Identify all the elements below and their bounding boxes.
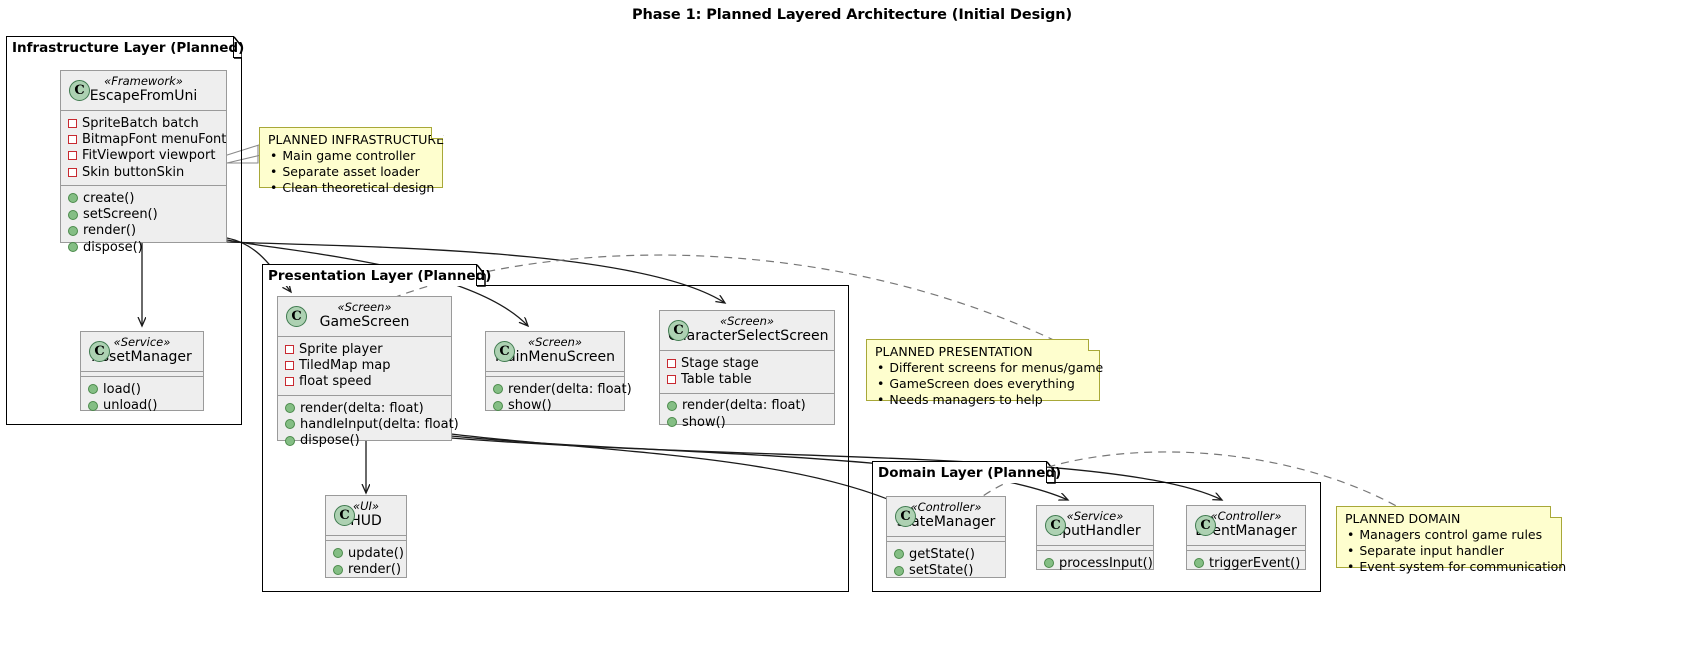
- class-icon: C: [895, 506, 916, 527]
- method-label: dispose(): [300, 433, 360, 448]
- public-method-icon: [88, 384, 98, 394]
- private-field-icon: [68, 168, 77, 177]
- field-row: TiledMap map: [285, 357, 445, 373]
- note-item: GameScreen does everything: [875, 376, 1091, 392]
- class-escapefromuni[interactable]: C «Framework» EscapeFromUni SpriteBatch …: [60, 70, 227, 243]
- method-label: getState(): [909, 547, 975, 562]
- class-methods: getState() setState(): [887, 542, 1005, 584]
- method-label: render(): [348, 562, 401, 577]
- method-row: dispose(): [68, 239, 220, 255]
- class-methods: triggerEvent(): [1187, 551, 1305, 576]
- class-header-gamescreen: C «Screen» GameScreen: [278, 297, 451, 337]
- class-icon: C: [1045, 515, 1066, 536]
- public-method-icon: [88, 401, 98, 411]
- field-row: SpriteBatch batch: [68, 115, 220, 131]
- method-label: render(): [83, 223, 136, 238]
- private-field-icon: [667, 359, 676, 368]
- method-label: show(): [508, 398, 552, 413]
- field-label: SpriteBatch batch: [82, 116, 199, 131]
- private-field-icon: [285, 361, 294, 370]
- class-stereotype: «Framework»: [69, 75, 218, 88]
- note-item: Separate asset loader: [268, 164, 434, 180]
- class-name: EscapeFromUni: [69, 88, 218, 105]
- class-header-eventmanager: C «Controller» EventManager: [1187, 506, 1305, 546]
- class-icon: C: [668, 320, 689, 341]
- note-title: PLANNED INFRASTRUCTURE: [268, 132, 434, 148]
- method-row: triggerEvent(): [1194, 555, 1299, 571]
- method-row: unload(): [88, 397, 197, 413]
- field-label: Table table: [681, 372, 752, 387]
- method-row: update(): [333, 545, 400, 561]
- class-eventmanager[interactable]: C «Controller» EventManager triggerEvent…: [1186, 505, 1306, 570]
- method-row: load(): [88, 381, 197, 397]
- package-tab-infrastructure: Infrastructure Layer (Planned): [6, 36, 234, 58]
- note-item: Clean theoretical design: [268, 180, 434, 196]
- field-label: TiledMap map: [299, 358, 390, 373]
- class-header-mainmenuscreen: C «Screen» MainMenuScreen: [486, 332, 624, 372]
- public-method-icon: [285, 419, 295, 429]
- class-icon: C: [89, 341, 110, 362]
- public-method-icon: [68, 226, 78, 236]
- note-item: Different screens for menus/game: [875, 360, 1091, 376]
- field-label: Sprite player: [299, 342, 383, 357]
- method-row: render(delta: float): [285, 400, 445, 416]
- class-header-statemanager: C «Controller» StateManager: [887, 497, 1005, 537]
- method-label: processInput(): [1059, 556, 1153, 571]
- class-assetmanager[interactable]: C «Service» AssetManager load() unload(): [80, 331, 204, 411]
- method-label: render(delta: float): [508, 382, 632, 397]
- class-methods: update() render(): [326, 541, 406, 583]
- public-method-icon: [493, 401, 503, 411]
- method-label: dispose(): [83, 240, 143, 255]
- class-header-escapefromuni: C «Framework» EscapeFromUni: [61, 71, 226, 111]
- public-method-icon: [667, 417, 677, 427]
- method-row: render(delta: float): [667, 398, 828, 414]
- method-label: triggerEvent(): [1209, 556, 1300, 571]
- public-method-icon: [285, 403, 295, 413]
- method-label: setState(): [909, 563, 973, 578]
- class-name: CharacterSelectScreen: [668, 328, 826, 345]
- public-method-icon: [68, 193, 78, 203]
- field-row: Skin buttonSkin: [68, 164, 220, 180]
- field-label: FitViewport viewport: [82, 148, 215, 163]
- method-row: create(): [68, 190, 220, 206]
- note-item: Main game controller: [268, 148, 434, 164]
- field-label: Stage stage: [681, 356, 759, 371]
- public-method-icon: [894, 549, 904, 559]
- note-item: Event system for communication: [1345, 559, 1553, 575]
- note-item: Managers control game rules: [1345, 527, 1553, 543]
- class-methods: render(delta: float) show(): [486, 377, 624, 419]
- class-fields: Sprite player TiledMap map float speed: [278, 337, 451, 396]
- diagram-canvas: Phase 1: Planned Layered Architecture (I…: [0, 0, 1704, 649]
- public-method-icon: [68, 210, 78, 220]
- class-header-assetmanager: C «Service» AssetManager: [81, 332, 203, 372]
- method-row: show(): [667, 414, 828, 430]
- method-label: render(delta: float): [682, 398, 806, 413]
- note-planned-infrastructure: PLANNED INFRASTRUCTURE Main game control…: [259, 127, 443, 188]
- private-field-icon: [285, 377, 294, 386]
- private-field-icon: [285, 345, 294, 354]
- method-label: create(): [83, 191, 134, 206]
- public-method-icon: [667, 401, 677, 411]
- field-row: Sprite player: [285, 341, 445, 357]
- class-name: GameScreen: [286, 314, 443, 331]
- class-statemanager[interactable]: C «Controller» StateManager getState() s…: [886, 496, 1006, 578]
- method-label: render(delta: float): [300, 401, 424, 416]
- method-row: render(): [68, 223, 220, 239]
- public-method-icon: [333, 548, 343, 558]
- package-label-domain: Domain Layer (Planned): [878, 465, 1061, 481]
- field-label: Skin buttonSkin: [82, 165, 184, 180]
- note-fold-icon: [1550, 506, 1562, 518]
- private-field-icon: [68, 135, 77, 144]
- class-fields: SpriteBatch batch BitmapFont menuFont Fi…: [61, 111, 226, 186]
- note-item: Needs managers to help: [875, 392, 1091, 408]
- method-row: dispose(): [285, 433, 445, 449]
- private-field-icon: [667, 375, 676, 384]
- field-row: FitViewport viewport: [68, 148, 220, 164]
- method-label: update(): [348, 546, 404, 561]
- method-row: setState(): [894, 562, 999, 578]
- class-fields: Stage stage Table table: [660, 351, 834, 394]
- method-label: setScreen(): [83, 207, 158, 222]
- class-gamescreen[interactable]: C «Screen» GameScreen Sprite player Tile…: [277, 296, 452, 441]
- class-methods: processInput(): [1037, 551, 1153, 576]
- method-label: load(): [103, 382, 141, 397]
- note-title: PLANNED DOMAIN: [1345, 511, 1553, 527]
- class-hud[interactable]: C «UI» HUD update() render(): [325, 495, 407, 578]
- class-characterselectscreen[interactable]: C «Screen» CharacterSelectScreen Stage s…: [659, 310, 835, 425]
- class-methods: load() unload(): [81, 377, 203, 419]
- method-row: render(delta: float): [493, 381, 618, 397]
- class-icon: C: [1195, 515, 1216, 536]
- note-title: PLANNED PRESENTATION: [875, 344, 1091, 360]
- method-label: handleInput(delta: float): [300, 417, 459, 432]
- method-label: show(): [682, 415, 726, 430]
- private-field-icon: [68, 119, 77, 128]
- method-row: processInput(): [1044, 555, 1147, 571]
- field-row: BitmapFont menuFont: [68, 131, 220, 147]
- class-header-hud: C «UI» HUD: [326, 496, 406, 536]
- class-inputhandler[interactable]: C «Service» InputHandler processInput(): [1036, 505, 1154, 570]
- package-tab-presentation: Presentation Layer (Planned): [262, 264, 477, 286]
- class-icon: C: [286, 306, 307, 327]
- public-method-icon: [68, 242, 78, 252]
- class-methods: render(delta: float) show(): [660, 394, 834, 436]
- method-row: setScreen(): [68, 207, 220, 223]
- class-header-inputhandler: C «Service» InputHandler: [1037, 506, 1153, 546]
- private-field-icon: [68, 151, 77, 160]
- class-icon: C: [494, 341, 515, 362]
- field-row: Stage stage: [667, 355, 828, 371]
- field-label: BitmapFont menuFont: [82, 132, 226, 147]
- class-methods: create() setScreen() render() dispose(): [61, 186, 226, 260]
- note-fold-icon: [431, 127, 443, 139]
- note-item: Separate input handler: [1345, 543, 1553, 559]
- class-header-characterselectscreen: C «Screen» CharacterSelectScreen: [660, 311, 834, 351]
- package-label-presentation: Presentation Layer (Planned): [268, 268, 491, 284]
- public-method-icon: [285, 436, 295, 446]
- public-method-icon: [493, 384, 503, 394]
- method-row: handleInput(delta: float): [285, 416, 445, 432]
- public-method-icon: [894, 566, 904, 576]
- note-fold-icon: [1088, 339, 1100, 351]
- class-icon: C: [334, 505, 355, 526]
- public-method-icon: [333, 565, 343, 575]
- page-title: Phase 1: Planned Layered Architecture (I…: [0, 7, 1704, 23]
- method-row: getState(): [894, 546, 999, 562]
- class-mainmenuscreen[interactable]: C «Screen» MainMenuScreen render(delta: …: [485, 331, 625, 411]
- public-method-icon: [1194, 558, 1204, 568]
- class-stereotype: «Screen»: [286, 301, 443, 314]
- class-icon: C: [69, 80, 90, 101]
- method-row: show(): [493, 397, 618, 413]
- note-planned-domain: PLANNED DOMAIN Managers control game rul…: [1336, 506, 1562, 568]
- class-stereotype: «Screen»: [668, 315, 826, 328]
- public-method-icon: [1044, 558, 1054, 568]
- package-label-infrastructure: Infrastructure Layer (Planned): [12, 40, 244, 56]
- package-tab-domain: Domain Layer (Planned): [872, 461, 1047, 483]
- field-row: float speed: [285, 374, 445, 390]
- note-planned-presentation: PLANNED PRESENTATION Different screens f…: [866, 339, 1100, 401]
- field-row: Table table: [667, 371, 828, 387]
- class-methods: render(delta: float) handleInput(delta: …: [278, 396, 451, 454]
- method-label: unload(): [103, 398, 157, 413]
- method-row: render(): [333, 561, 400, 577]
- field-label: float speed: [299, 374, 372, 389]
